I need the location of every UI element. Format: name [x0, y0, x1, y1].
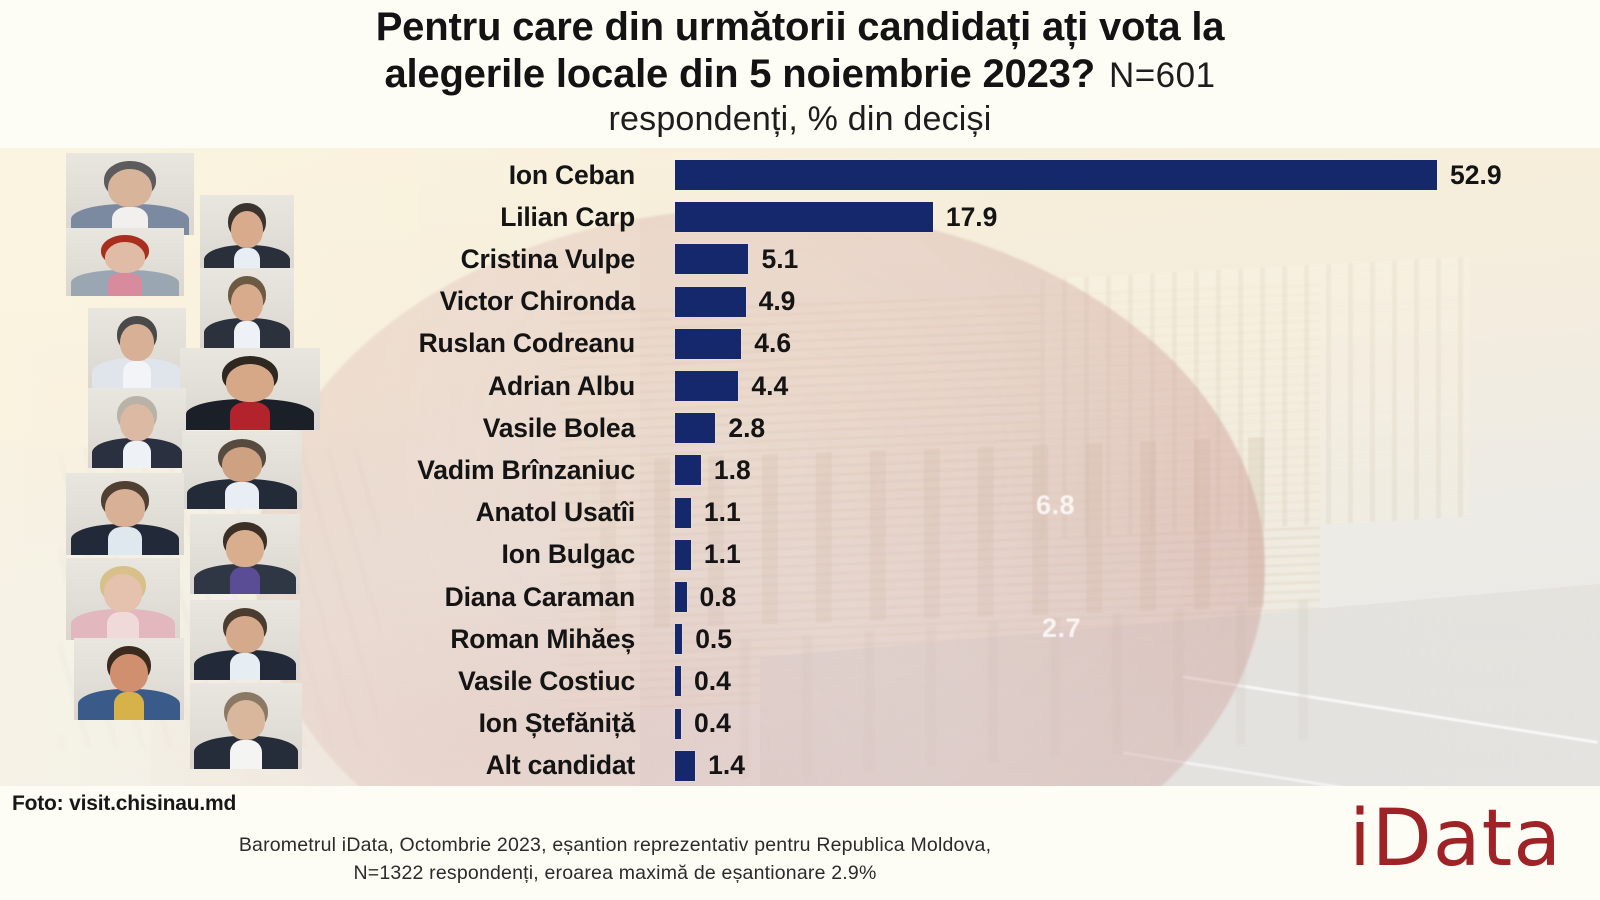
bar: [675, 371, 738, 401]
candidate-name: Ion Ceban: [0, 160, 635, 191]
bar-value-label: 0.5: [695, 624, 732, 655]
bar: [675, 709, 681, 739]
bar-row: Ruslan Codreanu4.6: [0, 323, 1600, 365]
bar-track: 4.6: [675, 328, 791, 359]
bar-value-label: 1.1: [704, 497, 741, 528]
bar-row: Ion Ștefăniță0.4: [0, 703, 1600, 745]
bar-row: Diana Caraman0.8: [0, 576, 1600, 618]
bar: [675, 540, 691, 570]
bar-row: Cristina Vulpe5.1: [0, 238, 1600, 280]
candidate-name: Vadim Brînzaniuc: [0, 455, 635, 486]
bar-track: 1.4: [675, 750, 745, 781]
title-band: Pentru care din următorii candidați ați …: [0, 0, 1600, 148]
candidate-name: Roman Mihăeș: [0, 624, 635, 655]
bar-track: 4.4: [675, 371, 788, 402]
bar: [675, 666, 681, 696]
bar-value-label: 2.8: [728, 413, 765, 444]
idata-logo: iData: [1349, 796, 1562, 882]
title-subtitle: respondenți, % din deciși: [608, 98, 991, 140]
bar: [675, 244, 748, 274]
candidate-name: Lilian Carp: [0, 202, 635, 233]
bar-track: 1.1: [675, 497, 741, 528]
candidate-name: Ion Bulgac: [0, 539, 635, 570]
bar: [675, 751, 695, 781]
bar-track: 5.1: [675, 244, 798, 275]
bar-track: 4.9: [675, 286, 795, 317]
bar: [675, 413, 715, 443]
bar-row: Anatol Usatîi1.1: [0, 492, 1600, 534]
source-note: Barometrul iData, Octombrie 2023, eșanti…: [0, 831, 1230, 887]
chart-area: 6.82.7 Ion Ceban52.9Lilian Carp17.9Crist…: [0, 148, 1600, 786]
bar-track: 17.9: [675, 202, 997, 233]
bar-row: Ion Ceban52.9: [0, 154, 1600, 196]
bar-row: Vadim Brînzaniuc1.8: [0, 449, 1600, 491]
bar-value-label: 4.4: [751, 371, 788, 402]
bar-rows: Ion Ceban52.9Lilian Carp17.9Cristina Vul…: [0, 148, 1600, 786]
bar-value-label: 1.4: [708, 750, 745, 781]
bar: [675, 287, 746, 317]
bar-value-label: 4.9: [759, 286, 796, 317]
candidate-name: Ion Ștefăniță: [0, 708, 635, 739]
candidate-name: Anatol Usatîi: [0, 497, 635, 528]
bar-row: Lilian Carp17.9: [0, 196, 1600, 238]
bar-track: 1.8: [675, 455, 751, 486]
bar-row: Vasile Costiuc0.4: [0, 660, 1600, 702]
candidate-name: Ruslan Codreanu: [0, 328, 635, 359]
bar-track: 52.9: [675, 160, 1502, 191]
title-question: alegerile locale din 5 noiembrie 2023?: [384, 51, 1095, 98]
infographic-root: Pentru care din următorii candidați ați …: [0, 0, 1600, 900]
bar: [675, 329, 741, 359]
title-sample-note: N=601: [1109, 52, 1216, 99]
bar-row: Roman Mihăeș0.5: [0, 618, 1600, 660]
bar-value-label: 1.1: [704, 539, 741, 570]
photo-credit: Foto: visit.chisinau.md: [12, 792, 236, 816]
bar-track: 2.8: [675, 413, 765, 444]
bar-row: Vasile Bolea2.8: [0, 407, 1600, 449]
footer-band: Foto: visit.chisinau.md Barometrul iData…: [0, 786, 1600, 900]
bar-row: Adrian Albu4.4: [0, 365, 1600, 407]
bar-value-label: 0.8: [700, 582, 737, 613]
candidate-name: Vasile Costiuc: [0, 666, 635, 697]
bar-value-label: 4.6: [754, 328, 791, 359]
bar-value-label: 0.4: [694, 708, 731, 739]
candidate-name: Diana Caraman: [0, 582, 635, 613]
bar-track: 0.8: [675, 582, 736, 613]
bar-row: Alt candidat1.4: [0, 745, 1600, 786]
bar: [675, 455, 701, 485]
bar: [675, 202, 933, 232]
bar-track: 1.1: [675, 539, 741, 570]
bar: [675, 160, 1437, 190]
bar-track: 0.4: [675, 708, 731, 739]
title-line-2: alegerile locale din 5 noiembrie 2023? N…: [384, 51, 1215, 99]
candidate-name: Adrian Albu: [0, 371, 635, 402]
bar: [675, 582, 687, 612]
bar-value-label: 1.8: [714, 455, 751, 486]
bar-value-label: 5.1: [761, 244, 798, 275]
bar-track: 0.4: [675, 666, 731, 697]
bar-value-label: 52.9: [1450, 160, 1502, 191]
candidate-name: Vasile Bolea: [0, 413, 635, 444]
bar: [675, 498, 691, 528]
candidate-name: Victor Chironda: [0, 286, 635, 317]
bar: [675, 624, 682, 654]
bar-row: Victor Chironda4.9: [0, 281, 1600, 323]
bar-value-label: 17.9: [946, 202, 998, 233]
bar-track: 0.5: [675, 624, 732, 655]
bar-value-label: 0.4: [694, 666, 731, 697]
bar-row: Ion Bulgac1.1: [0, 534, 1600, 576]
source-line-1: Barometrul iData, Octombrie 2023, eșanti…: [0, 831, 1230, 859]
candidate-name: Alt candidat: [0, 750, 635, 781]
title-line-1: Pentru care din următorii candidați ați …: [376, 4, 1225, 51]
source-line-2: N=1322 respondenți, eroarea maximă de eș…: [0, 859, 1230, 887]
candidate-name: Cristina Vulpe: [0, 244, 635, 275]
